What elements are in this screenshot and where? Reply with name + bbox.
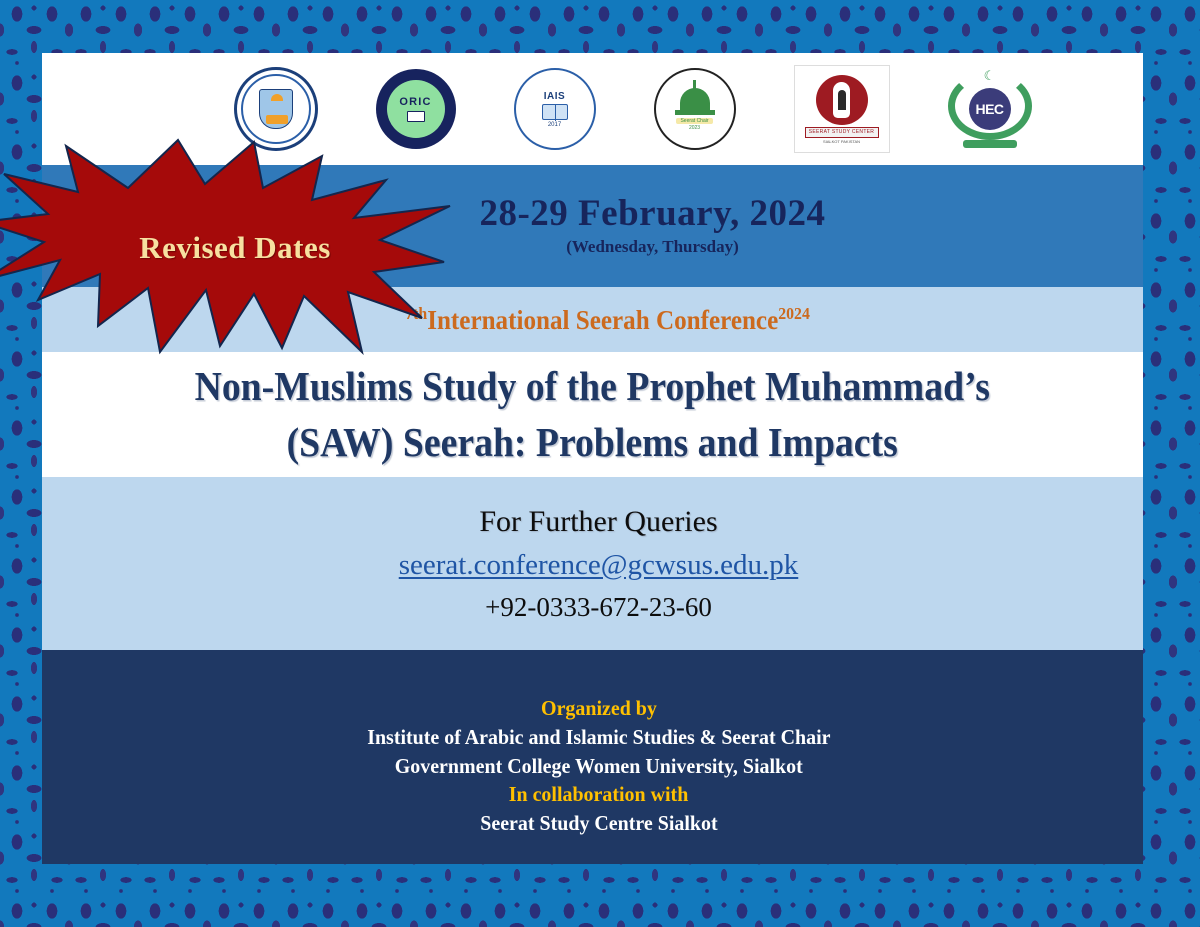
oric-logo-text: ORIC	[399, 97, 431, 108]
organizer-line-1: Institute of Arabic and Islamic Studies …	[367, 723, 830, 752]
ssc-logo-text: SEERAT STUDY CENTER	[805, 127, 879, 138]
page-title-line-2: (SAW) Seerah: Problems and Impacts	[287, 415, 898, 470]
poster-title-block: Non-Muslims Study of the Prophet Muhamma…	[48, 352, 1137, 477]
organizer-footer: Organized by Institute of Arabic and Isl…	[42, 650, 1143, 864]
hec-logo-text: HEC	[975, 101, 1003, 117]
date-band: 28-29 February, 2024 (Wednesday, Thursda…	[42, 165, 1143, 287]
contact-phone-number: +92-0333-672-23-60	[485, 592, 712, 623]
hec-scroll-icon	[963, 140, 1017, 148]
conference-ordinal: 7th	[405, 304, 427, 323]
seerat-chair-logo-year: 2023	[689, 125, 700, 131]
poster-content-card: ORIC IAIS 2017 Seerat Chair 2023 SEERAT …	[42, 53, 1143, 864]
queries-heading: For Further Queries	[479, 505, 717, 539]
hec-pakistan-logo: ☾ HEC	[948, 68, 1032, 150]
seerat-chair-logo-text: Seerat Chair	[676, 118, 712, 124]
mosque-dome-icon	[680, 88, 710, 110]
conference-poster: ORIC IAIS 2017 Seerat Chair 2023 SEERAT …	[0, 0, 1200, 927]
page-title-line-1: Non-Muslims Study of the Prophet Muhamma…	[195, 359, 990, 414]
iais-logo-year: 2017	[548, 122, 561, 128]
oric-book-icon	[407, 111, 425, 122]
queries-band: For Further Queries seerat.conference@gc…	[42, 477, 1143, 650]
conference-name-band: 7thInternational Seerah Conference2024	[42, 287, 1143, 352]
seerat-study-centre-logo: SEERAT STUDY CENTER SIALKOT PAKISTAN	[794, 65, 890, 153]
collaboration-heading: In collaboration with	[509, 780, 689, 809]
oric-logo: ORIC	[376, 69, 456, 149]
conference-name-line: 7thInternational Seerah Conference2024	[405, 304, 810, 336]
seerat-chair-logo: Seerat Chair 2023	[654, 68, 736, 150]
ssc-logo-subtext: SIALKOT PAKISTAN	[823, 139, 860, 144]
iais-logo-text: IAIS	[544, 91, 565, 102]
contact-email-link[interactable]: seerat.conference@gcwsus.edu.pk	[399, 549, 799, 582]
iais-logo: IAIS 2017	[514, 68, 596, 150]
conference-weekdays: (Wednesday, Thursday)	[566, 237, 739, 257]
ssc-globe-icon	[816, 75, 868, 125]
conference-dates: 28-29 February, 2024	[479, 195, 825, 234]
conference-year: 2024	[778, 304, 810, 323]
logo-strip: ORIC IAIS 2017 Seerat Chair 2023 SEERAT …	[42, 53, 1143, 165]
iais-open-book-icon	[542, 104, 568, 120]
oric-inner-disc: ORIC	[387, 80, 445, 138]
hec-disc-icon: HEC	[969, 88, 1011, 130]
gcwus-shield-icon	[259, 89, 293, 129]
organized-by-heading: Organized by	[541, 694, 657, 723]
collaborator-line: Seerat Study Centre Sialkot	[480, 809, 717, 838]
organizer-line-2: Government College Women University, Sia…	[394, 752, 802, 781]
crescent-moon-icon: ☾	[984, 68, 996, 84]
mosque-base-icon	[675, 110, 715, 115]
gcwus-crest-logo	[234, 67, 318, 151]
conference-name: International Seerah Conference	[427, 305, 778, 335]
gcwus-crest-ring	[241, 74, 311, 144]
